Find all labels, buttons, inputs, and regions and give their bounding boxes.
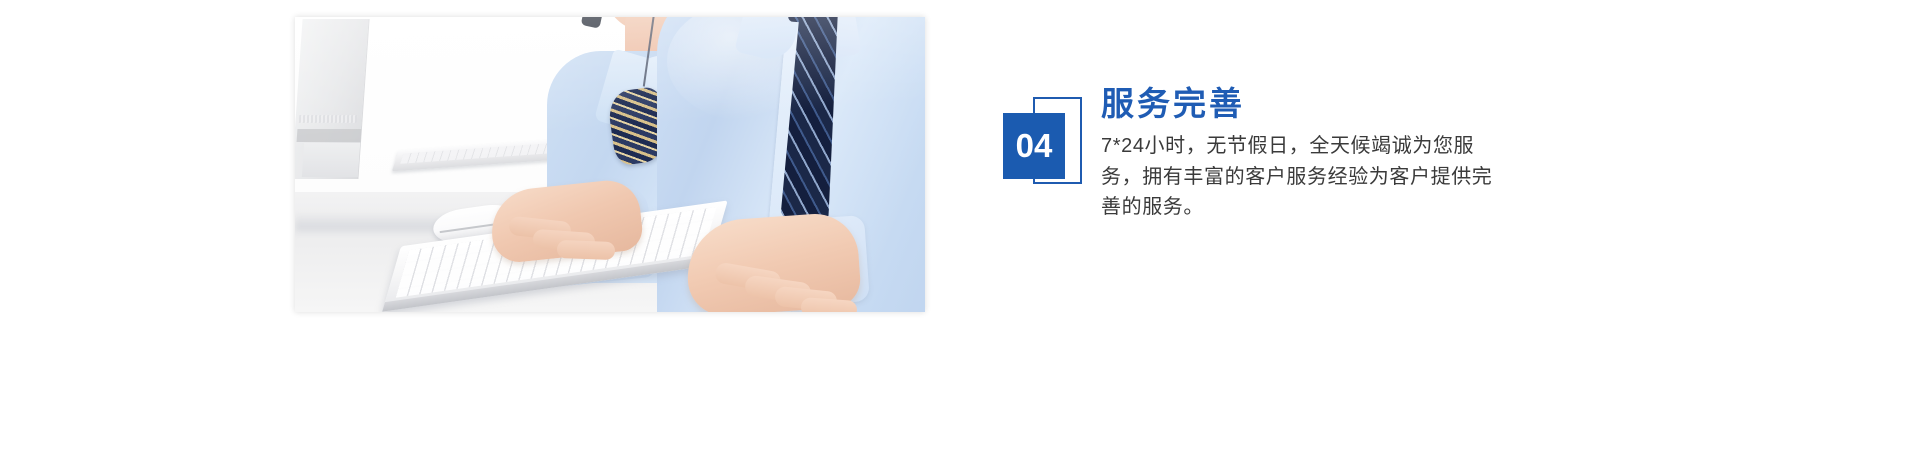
feature-description: 7*24小时，无节假日，全天候竭诚为您服务，拥有丰富的客户服务经验为客户提供完善… [1101,131,1497,222]
monitor-foot [302,143,360,177]
call-center-photo [295,17,925,312]
headset-microphone-icon [581,17,605,29]
feature-text-column: 服务完善 7*24小时，无节假日，全天候竭诚为您服务，拥有丰富的客户服务经验为客… [1101,86,1521,222]
service-feature-banner: 04 服务完善 7*24小时，无节假日，全天候竭诚为您服务，拥有丰富的客户服务经… [0,0,1920,452]
feature-content: 04 服务完善 7*24小时，无节假日，全天候竭诚为您服务，拥有丰富的客户服务经… [1003,86,1563,256]
background-keyboard-keys [400,142,566,164]
feature-title: 服务完善 [1101,86,1521,122]
step-number-badge: 04 [1003,106,1085,206]
monitor-vent [299,115,358,123]
monitor-band [297,129,362,142]
hand-on-mouse-finger [557,240,616,260]
photo-frame [295,17,925,312]
background-keyboard-icon [392,139,573,172]
badge-number: 04 [1003,113,1065,179]
